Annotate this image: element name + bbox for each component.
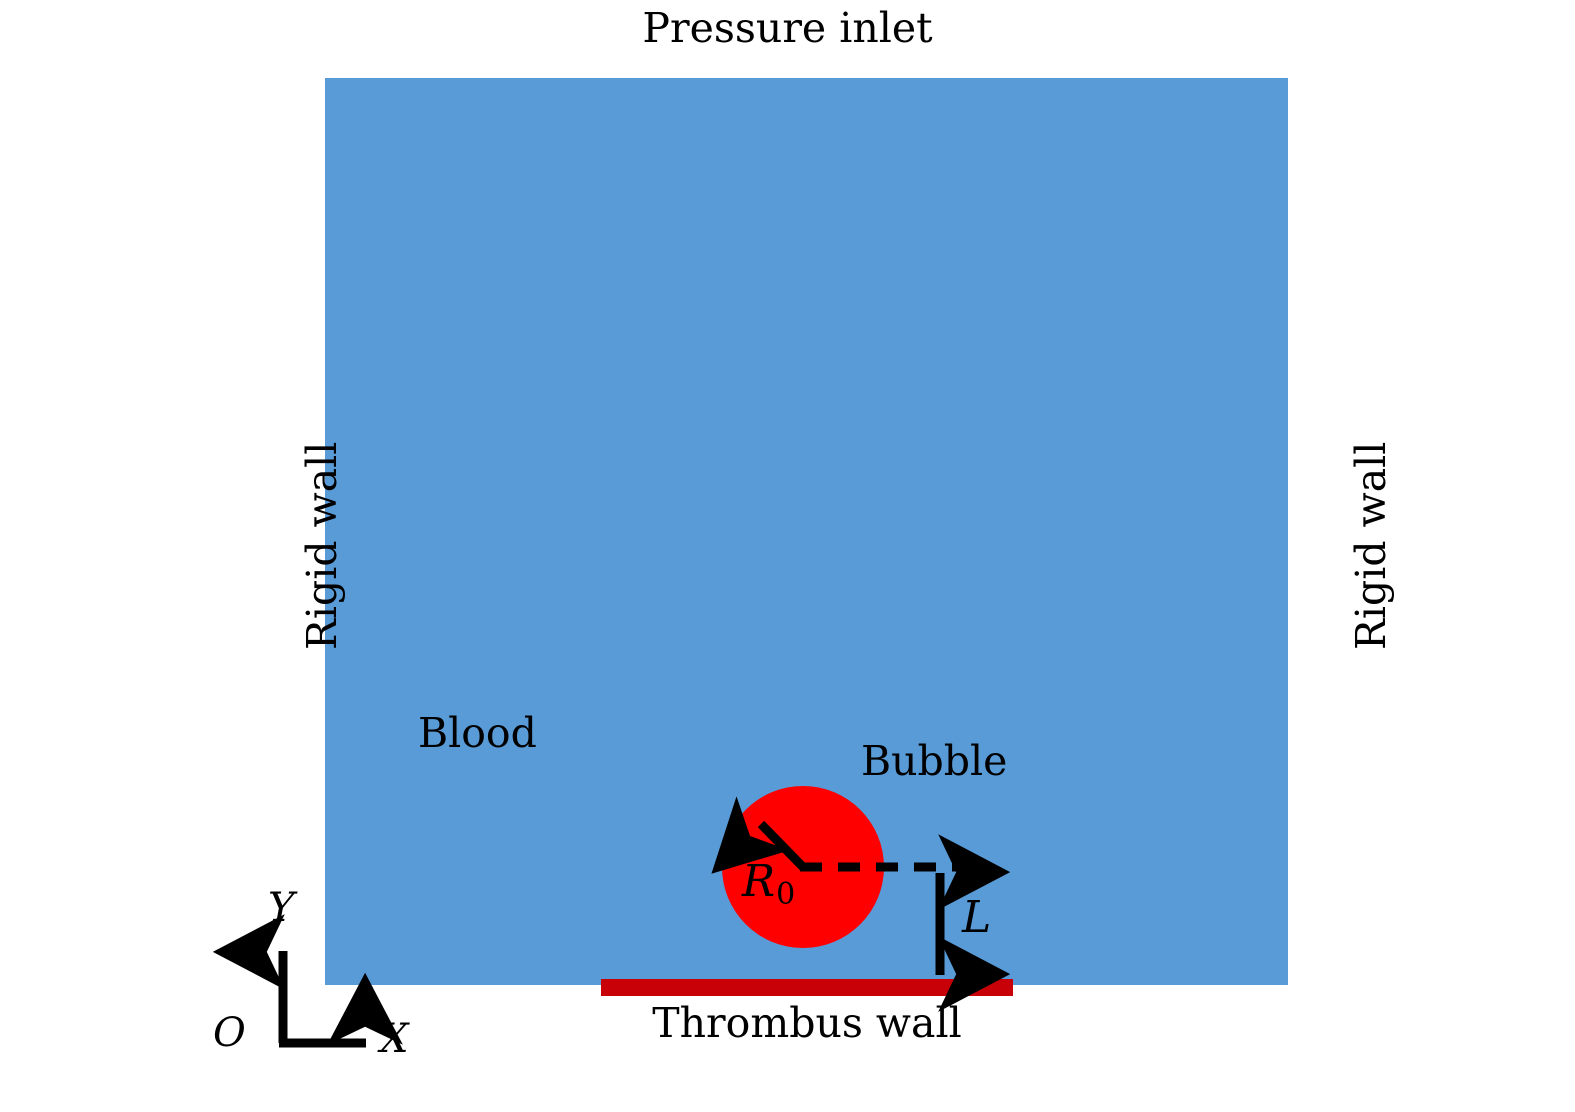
thrombus-wall-bar [601, 979, 1013, 996]
fluid-label-blood: Blood [418, 713, 537, 754]
boundary-label-rigid-wall-left: Rigid wall [302, 442, 343, 650]
standoff-distance-label: L [962, 896, 991, 940]
axis-origin-label: O [213, 1013, 246, 1053]
axis-y-label: Y [268, 888, 294, 928]
figure-canvas: Pressure inlet Rigid wall Rigid wall Blo… [0, 0, 1575, 1112]
boundary-label-rigid-wall-right: Rigid wall [1351, 442, 1392, 650]
thrombus-wall-label: Thrombus wall [652, 1003, 961, 1044]
axis-x-label: X [380, 1019, 408, 1059]
bubble-radius-symbol: R [742, 856, 775, 907]
diagram-vector-layer [0, 0, 1575, 1112]
boundary-label-pressure-inlet: Pressure inlet [642, 8, 932, 49]
bubble-radius-subscript: 0 [776, 877, 795, 912]
bubble-label: Bubble [861, 741, 1007, 782]
bubble-radius-label: R0 [742, 860, 795, 910]
